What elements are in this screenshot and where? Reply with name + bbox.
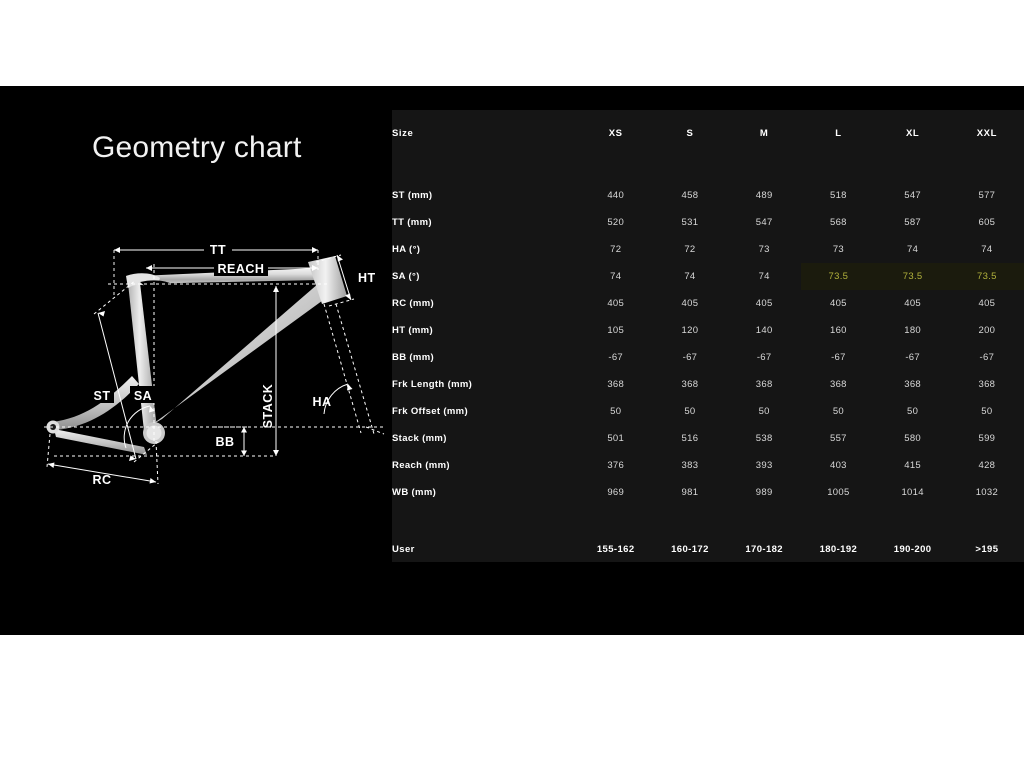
geometry-table: Size XS S M L XL XXL ST (mm)440458489518… [392, 110, 1024, 564]
cell-value: -67 [801, 344, 875, 371]
cell-value: 405 [653, 290, 727, 317]
row-label: Frk Offset (mm) [392, 398, 579, 425]
cell-value: 1032 [950, 479, 1024, 506]
user-row-label: User [392, 534, 579, 564]
table-header-row: Size XS S M L XL XXL [392, 110, 1024, 156]
cell-value: 405 [727, 290, 801, 317]
table-row: Frk Offset (mm)505050505050 [392, 398, 1024, 425]
cell-value: 516 [653, 425, 727, 452]
row-label: Frk Length (mm) [392, 371, 579, 398]
cell-value: 74 [579, 263, 653, 290]
cell-value: 518 [801, 182, 875, 209]
dim-label-st: ST [94, 389, 111, 403]
cell-value: 50 [876, 398, 950, 425]
table-row: BB (mm)-67-67-67-67-67-67 [392, 344, 1024, 371]
cell-value: 557 [801, 425, 875, 452]
row-label: ST (mm) [392, 182, 579, 209]
cell-value: 73 [727, 236, 801, 263]
cell-value: 599 [950, 425, 1024, 452]
cell-value: 405 [950, 290, 1024, 317]
cell-value: 605 [950, 209, 1024, 236]
cell-value: 428 [950, 452, 1024, 479]
cell-value: 405 [801, 290, 875, 317]
row-label: BB (mm) [392, 344, 579, 371]
cell-value: 405 [579, 290, 653, 317]
cell-value: 1005 [801, 479, 875, 506]
cell-value: 72 [579, 236, 653, 263]
cell-value: 393 [727, 452, 801, 479]
cell-value: 74 [876, 236, 950, 263]
cell-value: 368 [579, 371, 653, 398]
cell-value: 981 [653, 479, 727, 506]
page-title: Geometry chart [92, 131, 302, 165]
table-row: RC (mm)405405405405405405 [392, 290, 1024, 317]
dim-bb [241, 427, 247, 456]
cell-value: 74 [950, 236, 1024, 263]
dim-label-rc: RC [92, 473, 111, 487]
cell-value: 403 [801, 452, 875, 479]
row-label: RC (mm) [392, 290, 579, 317]
cell-value: 368 [727, 371, 801, 398]
cell-value: 50 [801, 398, 875, 425]
cell-value: 587 [876, 209, 950, 236]
cell-value: 531 [653, 209, 727, 236]
dim-label-ht: HT [358, 271, 376, 285]
row-label: TT (mm) [392, 209, 579, 236]
column-header-s: S [653, 110, 727, 156]
dim-label-ha: HA [312, 395, 331, 409]
table-body: ST (mm)440458489518547577TT (mm)52053154… [392, 156, 1024, 564]
cell-value: 368 [801, 371, 875, 398]
user-gap-row [392, 506, 1024, 534]
cell-value: -67 [950, 344, 1024, 371]
cell-value: -67 [579, 344, 653, 371]
cell-value: -67 [876, 344, 950, 371]
cell-value: 368 [876, 371, 950, 398]
cell-value: 50 [579, 398, 653, 425]
geometry-table-panel: Size XS S M L XL XXL ST (mm)440458489518… [392, 110, 1024, 562]
frame-artwork [47, 256, 348, 455]
header-spacer-row [392, 156, 1024, 182]
cell-value: 50 [950, 398, 1024, 425]
dim-label-reach: REACH [218, 262, 265, 276]
cell-value: 520 [579, 209, 653, 236]
dim-label-sa: SA [134, 389, 152, 403]
user-cell-value: 180-192 [801, 534, 875, 564]
cell-value: 547 [876, 182, 950, 209]
column-header-l: L [801, 110, 875, 156]
cell-value: 50 [653, 398, 727, 425]
cell-value: 74 [653, 263, 727, 290]
table-row: TT (mm)520531547568587605 [392, 209, 1024, 236]
user-cell-value: 190-200 [876, 534, 950, 564]
row-label: HT (mm) [392, 317, 579, 344]
cell-value: 73 [801, 236, 875, 263]
cell-value: 160 [801, 317, 875, 344]
cell-value: -67 [653, 344, 727, 371]
table-row: Frk Length (mm)368368368368368368 [392, 371, 1024, 398]
cell-value: 538 [727, 425, 801, 452]
cell-value: 405 [876, 290, 950, 317]
table-row: ST (mm)440458489518547577 [392, 182, 1024, 209]
table-row: SA (°)74747473.573.573.5 [392, 263, 1024, 290]
cell-value: 989 [727, 479, 801, 506]
user-cell-value: 160-172 [653, 534, 727, 564]
table-row: Reach (mm)376383393403415428 [392, 452, 1024, 479]
cell-value: 577 [950, 182, 1024, 209]
cell-value: 105 [579, 317, 653, 344]
column-header-m: M [727, 110, 801, 156]
cell-value: 415 [876, 452, 950, 479]
cell-value: 140 [727, 317, 801, 344]
column-header-xxl: XXL [950, 110, 1024, 156]
cell-value: 180 [876, 317, 950, 344]
row-label: Reach (mm) [392, 452, 579, 479]
row-label: Stack (mm) [392, 425, 579, 452]
row-label: WB (mm) [392, 479, 579, 506]
slide-canvas: Geometry chart [0, 0, 1024, 768]
table-row: WB (mm)969981989100510141032 [392, 479, 1024, 506]
user-row: User155-162160-172170-182180-192190-200>… [392, 534, 1024, 564]
cell-value: 547 [727, 209, 801, 236]
row-label: HA (°) [392, 236, 579, 263]
user-cell-value: 155-162 [579, 534, 653, 564]
cell-value: 568 [801, 209, 875, 236]
cell-value: 368 [653, 371, 727, 398]
cell-value: 72 [653, 236, 727, 263]
cell-value: 120 [653, 317, 727, 344]
row-label: SA (°) [392, 263, 579, 290]
user-cell-value: >195 [950, 534, 1024, 564]
cell-value: 73.5 [876, 263, 950, 290]
cell-value: 458 [653, 182, 727, 209]
cell-value: 73.5 [801, 263, 875, 290]
bicycle-frame-geometry-diagram: TT REACH HT ST SA STACK HA BB RC [36, 228, 388, 496]
cell-value: -67 [727, 344, 801, 371]
column-header-xs: XS [579, 110, 653, 156]
cell-value: 74 [727, 263, 801, 290]
table-row: Stack (mm)501516538557580599 [392, 425, 1024, 452]
dim-label-stack: STACK [261, 384, 275, 429]
cell-value: 969 [579, 479, 653, 506]
dim-label-bb: BB [215, 435, 234, 449]
cell-value: 50 [727, 398, 801, 425]
cell-value: 1014 [876, 479, 950, 506]
cell-value: 580 [876, 425, 950, 452]
dim-stack [273, 286, 279, 456]
column-header-size: Size [392, 110, 579, 156]
cell-value: 200 [950, 317, 1024, 344]
cell-value: 368 [950, 371, 1024, 398]
cell-value: 376 [579, 452, 653, 479]
cell-value: 489 [727, 182, 801, 209]
column-header-xl: XL [876, 110, 950, 156]
cell-value: 73.5 [950, 263, 1024, 290]
cell-value: 440 [579, 182, 653, 209]
cell-value: 383 [653, 452, 727, 479]
dim-label-tt: TT [210, 243, 226, 257]
table-row: HA (°)727273737474 [392, 236, 1024, 263]
user-cell-value: 170-182 [727, 534, 801, 564]
table-row: HT (mm)105120140160180200 [392, 317, 1024, 344]
cell-value: 501 [579, 425, 653, 452]
